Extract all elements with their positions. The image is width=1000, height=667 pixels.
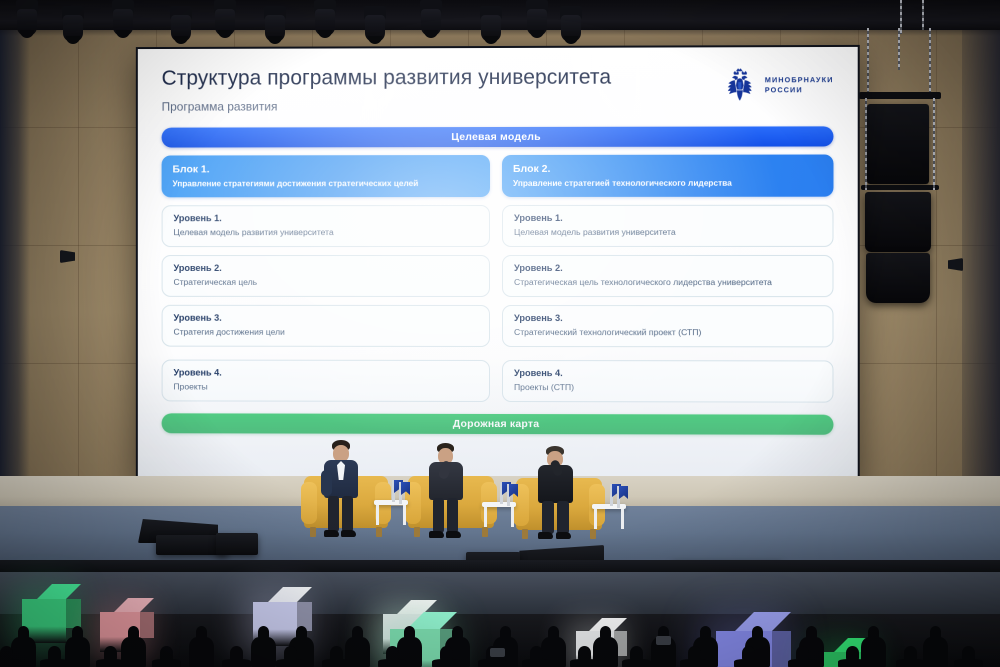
table-flag-2 <box>399 482 402 504</box>
block-2-desc: Управление стратегией технологического л… <box>513 178 822 189</box>
block-1-card: Блок 1. Управление стратегиями достижени… <box>162 155 490 197</box>
level-desc: Проекты <box>173 382 478 393</box>
level-title: Уровень 1. <box>514 213 821 224</box>
ministry-logo-line2: РОССИИ <box>765 85 834 96</box>
audience-shoulders <box>378 659 407 667</box>
audience-shoulders <box>622 659 651 667</box>
audience-head <box>688 646 701 660</box>
cube-top-face <box>407 612 457 629</box>
level-title: Уровень 3. <box>514 313 821 324</box>
audience-shoulders <box>680 659 709 667</box>
audience-shoulders <box>121 637 145 667</box>
panelist-shoe-2 <box>341 530 356 537</box>
block-2-title: Блок 2. <box>513 162 822 175</box>
cube-top-face <box>268 587 312 602</box>
audience-shoulders <box>222 659 251 667</box>
stage-monitor-left-box2 <box>216 533 258 555</box>
audience-shoulders <box>65 637 89 667</box>
block-1-level-3: Уровень 3. Стратегия достижения цели <box>162 305 490 347</box>
moving-head-light-7 <box>312 0 338 40</box>
audience-head <box>230 646 243 660</box>
cube-side-face <box>140 612 154 638</box>
level-desc: Целевая модель развития университета <box>514 227 821 238</box>
audience-shoulders <box>478 659 507 667</box>
block-1-level-4: Уровень 4. Проекты <box>162 360 490 402</box>
rigging-cable-2 <box>922 0 924 30</box>
table-flag-6 <box>617 486 620 508</box>
audience-shoulders <box>432 659 461 667</box>
rigging-cable-1 <box>900 0 902 34</box>
audience-head <box>48 646 61 660</box>
block-1-level-1: Уровень 1. Целевая модель развития униве… <box>162 205 490 247</box>
block-1-level-2: Уровень 2. Стратегическая цель <box>162 255 490 297</box>
panelist-center <box>421 443 481 541</box>
page-title: Структура программы развития университет… <box>162 66 612 91</box>
slide-subtitle: Программа развития <box>162 99 612 114</box>
level-title: Уровень 1. <box>173 213 478 224</box>
audience-head <box>630 646 643 660</box>
block-2-level-2: Уровень 2. Стратегическая цель технологи… <box>502 255 833 297</box>
conference-hall-scene: Структура программы развития университет… <box>0 0 1000 667</box>
audience-head <box>904 646 917 660</box>
block-1-title: Блок 1. <box>173 163 480 176</box>
level-title: Уровень 4. <box>173 368 478 379</box>
audience-shoulders <box>40 659 69 667</box>
moving-head-light-11 <box>524 0 550 40</box>
table-flag-5 <box>610 484 613 506</box>
panelist-shoe-1 <box>538 532 553 539</box>
panelist-leg-1 <box>328 496 339 532</box>
cube-top-face <box>37 584 81 599</box>
audience-shoulders <box>570 659 599 667</box>
audience-shoulders <box>788 659 817 667</box>
side-table-3 <box>592 504 626 509</box>
audience-shoulders <box>923 637 947 667</box>
block-1-desc: Управление стратегиями достижения страте… <box>173 178 480 189</box>
audience-head <box>0 646 13 660</box>
column-block-1: Блок 1. Управление стратегиями достижени… <box>162 155 490 402</box>
audience-shoulders <box>276 659 305 667</box>
moving-head-light-5 <box>212 0 238 40</box>
column-block-2: Блок 2. Управление стратегией технологич… <box>502 155 833 403</box>
moving-head-light-1 <box>14 0 40 40</box>
moving-head-light-6 <box>262 6 288 46</box>
panelist-leg-2 <box>557 501 569 534</box>
block-2-card: Блок 2. Управление стратегией технологич… <box>502 155 833 198</box>
level-desc: Стратегическая цель <box>173 277 478 288</box>
panelist-shoe-2 <box>556 532 571 539</box>
level-desc: Стратегический технологический проект (С… <box>514 327 821 338</box>
target-model-bar: Целевая модель <box>162 126 834 147</box>
level-desc: Проекты (СТП) <box>514 382 821 393</box>
moving-head-light-3 <box>110 0 136 40</box>
side-table-2 <box>482 502 516 507</box>
panelist-leg-1 <box>542 501 554 534</box>
audience-head <box>330 646 343 660</box>
moving-head-light-8 <box>362 6 388 46</box>
panelist-arm <box>321 470 332 496</box>
ministry-logo: МИНОБРНАУКИ РОССИИ <box>722 65 834 102</box>
ministry-logo-text: МИНОБРНАУКИ РОССИИ <box>765 75 834 96</box>
side-table-1 <box>374 500 408 505</box>
audience-head <box>742 646 755 660</box>
russian-double-headed-eagle-icon <box>722 68 758 102</box>
slide-header: Структура программы развития университет… <box>162 65 834 114</box>
audience-head <box>440 646 453 660</box>
moving-head-light-10 <box>478 6 504 46</box>
panelist-right <box>531 446 591 542</box>
audience-shoulders <box>954 659 983 667</box>
audience-head <box>796 646 809 660</box>
level-desc: Целевая модель развития университета <box>173 227 478 238</box>
line-array-speaker <box>855 28 955 318</box>
audience-head <box>578 646 591 660</box>
moving-head-light-12 <box>558 6 584 46</box>
panelist-left <box>316 440 376 540</box>
level-title: Уровень 2. <box>514 263 821 274</box>
audience-phone-1 <box>656 636 671 645</box>
audience-head <box>284 646 297 660</box>
cube-side-face <box>66 599 81 628</box>
table-flag-4 <box>507 484 510 506</box>
level-desc: Стратегия достижения цели <box>173 327 478 338</box>
audience-shoulders <box>322 659 351 667</box>
moving-head-light-9 <box>418 0 444 40</box>
panelist-leg-2 <box>342 496 353 532</box>
audience-shoulders <box>522 659 551 667</box>
projection-screen: Структура программы развития университет… <box>136 45 860 487</box>
blocks-columns: Блок 1. Управление стратегиями достижени… <box>162 155 834 403</box>
audience-head <box>160 646 173 660</box>
table-flag-3 <box>500 482 503 504</box>
block-2-level-1: Уровень 1. Целевая модель развития униве… <box>502 205 833 247</box>
audience-phone-2 <box>490 648 505 657</box>
audience-shoulders <box>96 659 125 667</box>
target-model-label: Целевая модель <box>451 131 541 143</box>
audience-shoulders <box>896 659 925 667</box>
block-2-level-3: Уровень 3. Стратегический технологически… <box>502 305 833 347</box>
audience-shoulders <box>0 659 21 667</box>
level-desc: Стратегическая цель технологического лид… <box>514 277 821 288</box>
slide-title-group: Структура программы развития университет… <box>162 66 612 114</box>
panelist-leg-1 <box>433 498 444 533</box>
ministry-logo-line1: МИНОБРНАУКИ <box>765 75 834 86</box>
audience-shoulders <box>189 637 213 667</box>
panelist-shoe-2 <box>446 531 461 538</box>
audience-head <box>530 646 543 660</box>
cube-top-face <box>114 598 154 612</box>
level-title: Уровень 4. <box>514 368 821 380</box>
audience-head <box>104 646 117 660</box>
block-2-level-4: Уровень 4. Проекты (СТП) <box>502 360 833 403</box>
moving-head-light-2 <box>60 6 86 46</box>
panelist-leg-2 <box>447 498 458 533</box>
roadmap-label: Дорожная карта <box>453 418 540 430</box>
cube-top-face <box>735 612 791 631</box>
audience-head <box>962 646 975 660</box>
presentation-slide: Структура программы развития университет… <box>138 47 858 485</box>
table-flag-1 <box>392 480 395 502</box>
panelist-shoe-1 <box>324 530 339 537</box>
level-title: Уровень 2. <box>173 263 478 274</box>
panelist-shoe-1 <box>429 531 444 538</box>
moving-head-light-4 <box>168 6 194 46</box>
audience-shoulders <box>251 637 275 667</box>
audience-shoulders <box>734 659 763 667</box>
audience-head <box>386 646 399 660</box>
roadmap-bar: Дорожная карта <box>162 413 834 434</box>
level-title: Уровень 3. <box>173 313 478 324</box>
audience-shoulders <box>838 659 867 667</box>
audience-head <box>846 646 859 660</box>
audience-shoulders <box>152 659 181 667</box>
